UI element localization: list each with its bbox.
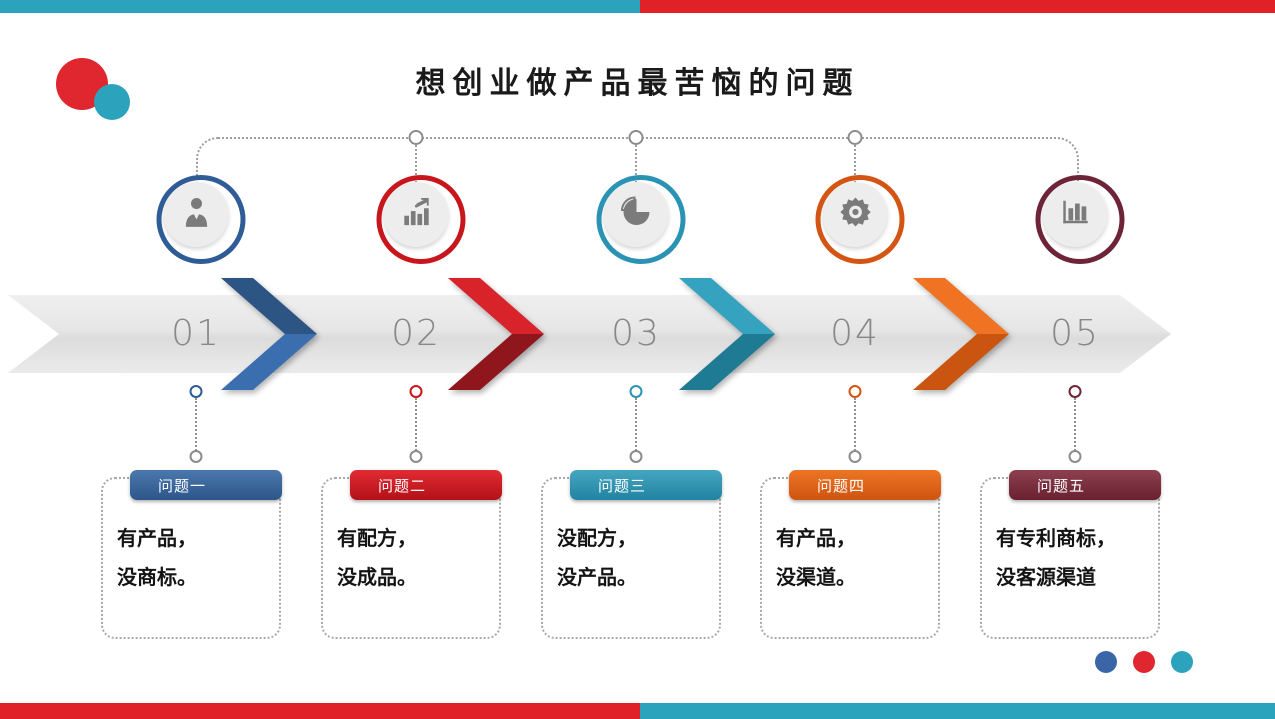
card-line2-01: 没商标。 xyxy=(117,558,265,597)
slide-canvas: 想创业做产品最苦恼的问题 01问题一有产品，没商标。02问题二有配方，没成品。0… xyxy=(0,0,1275,719)
chevron-3 xyxy=(679,278,791,390)
footer-dot-1 xyxy=(1095,651,1117,673)
chevron-4 xyxy=(913,278,1025,390)
connector-line-02 xyxy=(415,398,417,451)
pie-chart-icon xyxy=(620,196,652,233)
card-tag-05: 问题五 xyxy=(1009,470,1161,500)
connector-line-01 xyxy=(195,398,197,451)
connector-dot-bottom-01 xyxy=(190,450,203,463)
problem-card-01[interactable]: 问题一有产品，没商标。 xyxy=(101,477,281,639)
top-accent-bar-left xyxy=(0,0,640,13)
card-body-05: 有专利商标，没客源渠道 xyxy=(982,519,1158,597)
gear-icon xyxy=(839,196,871,233)
card-body-02: 有配方，没成品。 xyxy=(323,519,499,597)
card-line1-05: 有专利商标， xyxy=(996,519,1144,558)
chevron-bottom-3 xyxy=(679,278,791,390)
connector-dot-top-01 xyxy=(190,385,203,398)
problem-card-03[interactable]: 问题三没配方，没产品。 xyxy=(541,477,721,639)
connector-dot-top-02 xyxy=(410,385,423,398)
connector-dot-top-05 xyxy=(1069,385,1082,398)
connector-dot-bottom-04 xyxy=(849,450,862,463)
step-icon-04[interactable] xyxy=(823,182,888,247)
problem-card-02[interactable]: 问题二有配方，没成品。 xyxy=(321,477,501,639)
step-number-01: 01 xyxy=(171,313,221,354)
connector-dot-top-04 xyxy=(849,385,862,398)
chevron-2 xyxy=(448,278,560,390)
page-title: 想创业做产品最苦恼的问题 xyxy=(0,58,1275,102)
businessman-icon xyxy=(179,195,213,234)
step-icon-01[interactable] xyxy=(164,182,229,247)
card-body-01: 有产品，没商标。 xyxy=(103,519,279,597)
card-tag-02: 问题二 xyxy=(350,470,502,500)
connector-dot-bottom-05 xyxy=(1069,450,1082,463)
card-line2-02: 没成品。 xyxy=(337,558,485,597)
problem-card-04[interactable]: 问题四有产品，没渠道。 xyxy=(760,477,940,639)
connector-dot-top-03 xyxy=(630,385,643,398)
connector-line-04 xyxy=(854,398,856,451)
rail-node-02 xyxy=(409,130,424,145)
card-line1-03: 没配方， xyxy=(557,519,705,558)
footer-dot-3 xyxy=(1171,651,1193,673)
chevron-bottom-1 xyxy=(221,278,333,390)
connector-dot-bottom-03 xyxy=(630,450,643,463)
connector-line-03 xyxy=(635,398,637,451)
bar-chart-arrow-icon xyxy=(401,197,431,232)
chevron-1 xyxy=(221,278,333,390)
chevron-bottom-4 xyxy=(913,278,1025,390)
step-number-05: 05 xyxy=(1050,313,1100,354)
connector-line-05 xyxy=(1074,398,1076,451)
step-number-04: 04 xyxy=(830,313,880,354)
card-tag-03: 问题三 xyxy=(570,470,722,500)
card-line2-03: 没产品。 xyxy=(557,558,705,597)
top-accent-bar-right xyxy=(640,0,1275,13)
card-line2-05: 没客源渠道 xyxy=(996,558,1144,597)
step-number-03: 03 xyxy=(611,313,661,354)
footer-dot-2 xyxy=(1133,651,1155,673)
connector-dot-bottom-02 xyxy=(410,450,423,463)
card-tag-01: 问题一 xyxy=(130,470,282,500)
chevron-bottom-2 xyxy=(448,278,560,390)
step-number-02: 02 xyxy=(391,313,441,354)
footer-dots xyxy=(1095,651,1193,673)
card-line1-02: 有配方， xyxy=(337,519,485,558)
bar-chart-axis-icon xyxy=(1060,197,1090,232)
card-body-04: 有产品，没渠道。 xyxy=(762,519,938,597)
step-icon-05[interactable] xyxy=(1043,182,1108,247)
step-icon-02[interactable] xyxy=(384,182,449,247)
problem-card-05[interactable]: 问题五有专利商标，没客源渠道 xyxy=(980,477,1160,639)
card-line1-01: 有产品， xyxy=(117,519,265,558)
card-body-03: 没配方，没产品。 xyxy=(543,519,719,597)
rail-node-03 xyxy=(629,130,644,145)
step-icon-03[interactable] xyxy=(604,182,669,247)
bottom-accent-bar-right xyxy=(640,703,1275,719)
card-line2-04: 没渠道。 xyxy=(776,558,924,597)
bottom-accent-bar-left xyxy=(0,703,640,719)
card-line1-04: 有产品， xyxy=(776,519,924,558)
card-tag-04: 问题四 xyxy=(789,470,941,500)
rail-node-04 xyxy=(848,130,863,145)
